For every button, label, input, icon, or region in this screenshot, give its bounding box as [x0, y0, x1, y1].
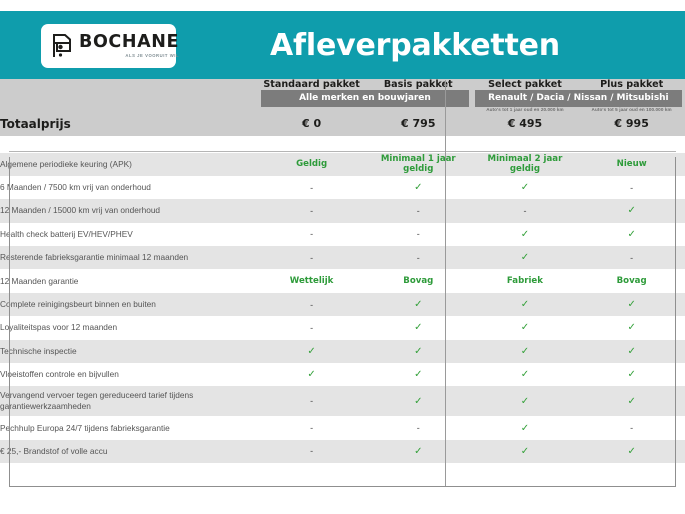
- badge-merken-lijst: Renault / Dacia / Nissan / Mitsubishi: [475, 90, 682, 107]
- header-spacer: [0, 79, 258, 90]
- cell-value: -: [258, 293, 365, 316]
- package-name-select: Select pakket: [472, 79, 579, 90]
- feature-label: Loyaliteitspas voor 12 maanden: [0, 316, 258, 339]
- footer-gap: [0, 463, 685, 487]
- cell-value: -: [365, 223, 472, 246]
- logo-text: BOCHANE ALS JE VOORUIT WIL: [79, 34, 179, 58]
- feature-label: Health check batterij EV/HEV/PHEV: [0, 223, 258, 246]
- cell-value: ✓: [578, 363, 685, 386]
- table-row: 6 Maanden / 7500 km vrij van onderhoud-✓…: [0, 176, 685, 199]
- cell-value: ✓: [472, 176, 579, 199]
- cell-value: -: [258, 440, 365, 463]
- cell-value: ✓: [258, 340, 365, 363]
- price-select: € 495: [472, 112, 579, 136]
- cell-value: ✓: [472, 416, 579, 439]
- package-header-row: Standaard pakket Basis pakket Select pak…: [0, 79, 685, 90]
- cell-value: -: [258, 246, 365, 269]
- cell-value: ✓: [365, 440, 472, 463]
- badge-spacer: [0, 90, 258, 107]
- feature-label: Pechhulp Europa 24/7 tijdens fabrieksgar…: [0, 416, 258, 439]
- table-row: Pechhulp Europa 24/7 tijdens fabrieksgar…: [0, 416, 685, 439]
- table-row: Resterende fabrieksgarantie minimaal 12 …: [0, 246, 685, 269]
- afleverpakketten-page: Afleverpakketten BOCHANE ALS JE VOORUIT …: [0, 0, 685, 514]
- table-left-border: [9, 157, 10, 487]
- table-row: 12 Maanden / 15000 km vrij van onderhoud…: [0, 199, 685, 222]
- table-bottom-border: [9, 486, 676, 487]
- price-plus: € 995: [578, 112, 685, 136]
- cell-value: ✓: [578, 340, 685, 363]
- packages-table: Standaard pakket Basis pakket Select pak…: [0, 79, 685, 487]
- footer-gap-row: [0, 463, 685, 487]
- cell-value: -: [258, 176, 365, 199]
- cell-value: -: [578, 176, 685, 199]
- table-row: Technische inspectie✓✓✓✓: [0, 340, 685, 363]
- table-right-border: [675, 157, 676, 487]
- cell-value: ✓: [472, 440, 579, 463]
- cell-value: Bovag: [578, 269, 685, 292]
- cell-value: ✓: [472, 293, 579, 316]
- feature-label: Resterende fabrieksgarantie minimaal 12 …: [0, 246, 258, 269]
- page-header: Afleverpakketten BOCHANE ALS JE VOORUIT …: [0, 11, 685, 79]
- cell-value: ✓: [365, 340, 472, 363]
- cell-value: ✓: [472, 316, 579, 339]
- cell-value: -: [258, 199, 365, 222]
- badge-left-group: Alle merken en bouwjaren: [258, 90, 471, 107]
- feature-label: 12 Maanden / 15000 km vrij van onderhoud: [0, 199, 258, 222]
- cell-value: Fabriek: [472, 269, 579, 292]
- cell-value: -: [365, 199, 472, 222]
- cell-value: -: [258, 223, 365, 246]
- table-row: Health check batterij EV/HEV/PHEV--✓✓: [0, 223, 685, 246]
- group-divider: [445, 80, 446, 487]
- cell-value: ✓: [365, 176, 472, 199]
- table-row: Vervangend vervoer tegen gereduceerd tar…: [0, 386, 685, 416]
- table-row: € 25,- Brandstof of volle accu-✓✓✓: [0, 440, 685, 463]
- cell-value: -: [258, 316, 365, 339]
- cell-value: ✓: [578, 440, 685, 463]
- cell-value: Nieuw: [578, 153, 685, 176]
- cell-value: -: [258, 386, 365, 416]
- header-gap: [0, 136, 685, 153]
- header-gap-row: [0, 136, 685, 153]
- feature-label: Complete reinigingsbeurt binnen en buite…: [0, 293, 258, 316]
- table-row: Vloeistoffen controle en bijvullen✓✓✓✓: [0, 363, 685, 386]
- cell-value: ✓: [578, 316, 685, 339]
- cell-value: Wettelijk: [258, 269, 365, 292]
- cell-value: ✓: [472, 340, 579, 363]
- feature-label: Vervangend vervoer tegen gereduceerd tar…: [0, 386, 258, 416]
- cell-value: -: [365, 246, 472, 269]
- cell-value: Bovag: [365, 269, 472, 292]
- package-name-plus: Plus pakket: [578, 79, 685, 90]
- logo-wordmark: BOCHANE: [79, 34, 179, 52]
- cell-value: Geldig: [258, 153, 365, 176]
- price-standaard: € 0: [258, 112, 365, 136]
- package-badge-row: Alle merken en bouwjaren Renault / Dacia…: [0, 90, 685, 107]
- feature-label: 12 Maanden garantie: [0, 269, 258, 292]
- subnote-select: Auto's tot 1 jaar oud en 20.000 km: [472, 107, 579, 112]
- table-row: 12 Maanden garantieWettelijkBovagFabriek…: [0, 269, 685, 292]
- cell-value: ✓: [365, 363, 472, 386]
- logo-tagline: ALS JE VOORUIT WIL: [79, 54, 179, 58]
- cell-value: -: [365, 416, 472, 439]
- cell-value: ✓: [365, 293, 472, 316]
- cell-value: Minimaal 1 jaar geldig: [365, 153, 472, 176]
- cell-value: ✓: [472, 223, 579, 246]
- table-row: Complete reinigingsbeurt binnen en buite…: [0, 293, 685, 316]
- cell-value: ✓: [578, 199, 685, 222]
- cell-value: ✓: [472, 386, 579, 416]
- cell-value: -: [472, 199, 579, 222]
- cell-value: ✓: [578, 293, 685, 316]
- cell-value: ✓: [578, 223, 685, 246]
- cell-value: ✓: [472, 363, 579, 386]
- package-name-standaard: Standaard pakket: [258, 79, 365, 90]
- cell-value: ✓: [258, 363, 365, 386]
- cell-value: -: [578, 246, 685, 269]
- table-top-rule: [9, 151, 676, 152]
- subnote-plus: Auto's tot 5 jaar oud en 100.000 km: [578, 107, 685, 112]
- badge-alle-merken: Alle merken en bouwjaren: [261, 90, 468, 107]
- feature-label: € 25,- Brandstof of volle accu: [0, 440, 258, 463]
- feature-label: Algemene periodieke keuring (APK): [0, 153, 258, 176]
- table-row: Algemene periodieke keuring (APK)GeldigM…: [0, 153, 685, 176]
- badge-right-group: Renault / Dacia / Nissan / Mitsubishi: [472, 90, 685, 107]
- bochane-mark-icon: [50, 33, 74, 59]
- cell-value: Minimaal 2 jaar geldig: [472, 153, 579, 176]
- cell-value: ✓: [365, 386, 472, 416]
- price-basis: € 795: [365, 112, 472, 136]
- cell-value: ✓: [578, 386, 685, 416]
- cell-value: ✓: [365, 316, 472, 339]
- bochane-logo: BOCHANE ALS JE VOORUIT WIL: [41, 24, 176, 68]
- package-name-basis: Basis pakket: [365, 79, 472, 90]
- feature-label: 6 Maanden / 7500 km vrij van onderhoud: [0, 176, 258, 199]
- cell-value: -: [578, 416, 685, 439]
- feature-label: Vloeistoffen controle en bijvullen: [0, 363, 258, 386]
- feature-label: Technische inspectie: [0, 340, 258, 363]
- cell-value: ✓: [472, 246, 579, 269]
- table-row: Loyaliteitspas voor 12 maanden-✓✓✓: [0, 316, 685, 339]
- total-price-label: Totaalprijs: [0, 112, 258, 136]
- total-price-row: Totaalprijs € 0 € 795 € 495 € 995: [0, 112, 685, 136]
- cell-value: -: [258, 416, 365, 439]
